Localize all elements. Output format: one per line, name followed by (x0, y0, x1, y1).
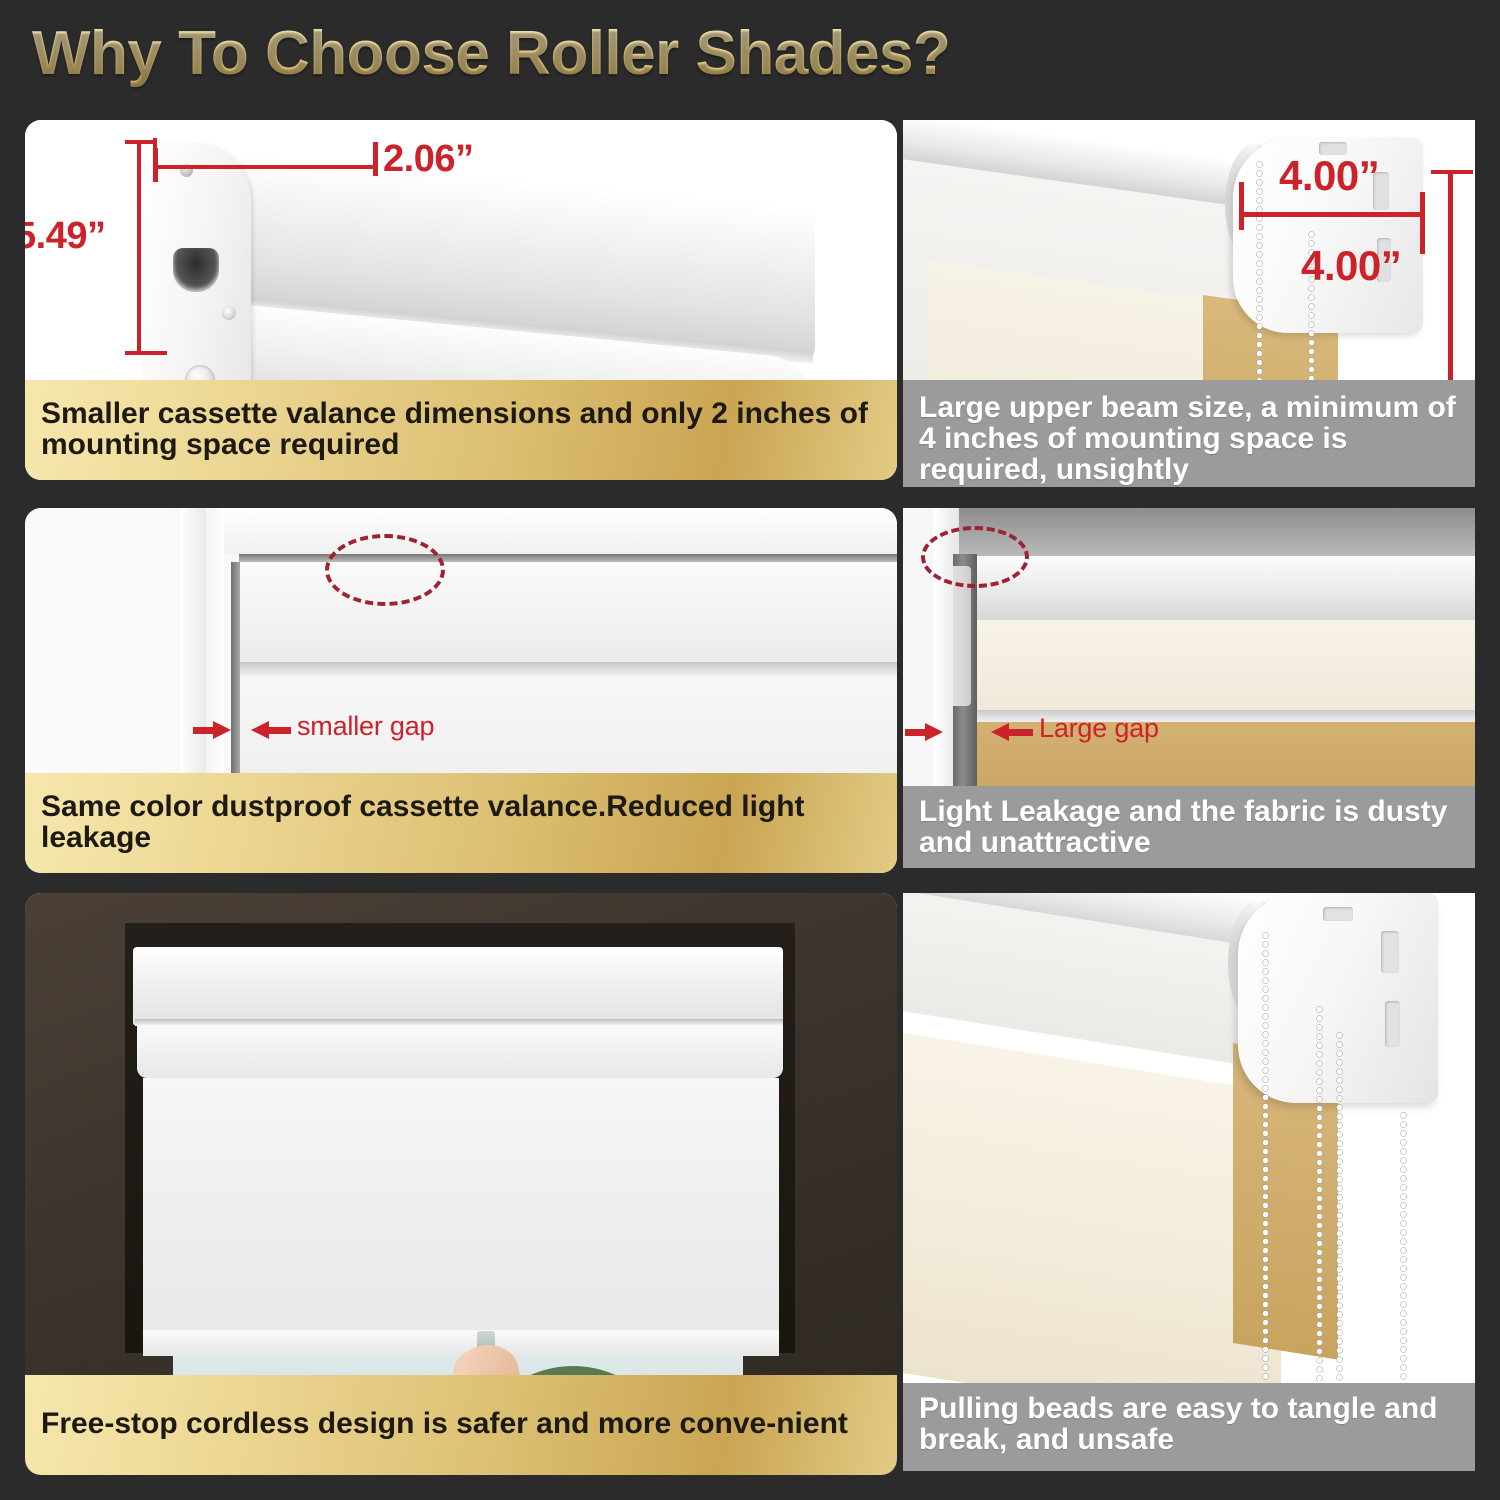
dim-height-line (137, 140, 141, 355)
bracket-slot-b (1385, 1001, 1400, 1047)
dim-width-tick-right-2 (1420, 192, 1425, 254)
caption-text: Large upper beam size, a minimum of 4 in… (919, 392, 1461, 486)
panel-smaller-gap: smaller gap Same color dustproof cassett… (25, 508, 897, 873)
roller-tube-white (959, 556, 1475, 620)
dim-height-cap-top (125, 140, 155, 144)
seam-highlight-ellipse (325, 534, 445, 606)
caption-text: Smaller cassette valance dimensions and … (41, 398, 883, 460)
panel-pulling-beads: Pulling beads are easy to tangle and bre… (903, 893, 1475, 1471)
bracket-slot (173, 248, 219, 292)
bracket-slot-a (1381, 931, 1399, 973)
roller-shade-panel (143, 1078, 779, 1348)
shade-fabric-cream (965, 620, 1475, 710)
dim-height-label-2: 4.00” (1301, 242, 1401, 290)
bead-chain-1 (1261, 931, 1270, 1381)
gap-arrow-left-tail (193, 727, 217, 734)
bead-chain-4 (1399, 1111, 1408, 1381)
shade-hem-bar (143, 1330, 779, 1356)
dark-recess-band (959, 508, 1475, 556)
dim-height-cap-top-2 (1431, 170, 1473, 174)
shade-lip (239, 662, 897, 676)
dim-height-cap-bottom (125, 351, 167, 355)
caption-text: Free-stop cordless design is safer and m… (41, 1408, 883, 1439)
dim-width-label-2: 4.00” (1279, 152, 1379, 200)
caption-text: Same color dustproof cassette valance.Re… (41, 791, 883, 853)
side-gap (231, 562, 240, 806)
caption-bar-large-gap: Light Leakage and the fabric is dusty an… (903, 786, 1475, 868)
panel-large-upper-beam: 4.00” 4.00” Large upper beam size, a min… (903, 120, 1475, 487)
valance-upper (133, 947, 783, 1025)
caption-text: Pulling beads are easy to tangle and bre… (919, 1393, 1461, 1455)
caption-bar-pulling-beads: Pulling beads are easy to tangle and bre… (903, 1383, 1475, 1471)
window-head-trim (224, 508, 897, 554)
caption-bar-small-cassette: Smaller cassette valance dimensions and … (25, 380, 897, 480)
panel-large-gap: Large gap Light Leakage and the fabric i… (903, 508, 1475, 868)
gap-arrow-left-tail (905, 729, 929, 736)
panel-cordless-design: Free-stop cordless design is safer and m… (25, 893, 897, 1475)
dim-height-label: 5.49” (25, 215, 105, 258)
panel-small-cassette-valance: 2.06” 5.49” Smaller cassette valance dim… (25, 120, 897, 480)
caption-bar-smaller-gap: Same color dustproof cassette valance.Re… (25, 773, 897, 873)
gap-arrow-right-tail (267, 727, 291, 734)
dim-width-line-2 (1241, 212, 1423, 217)
gap-label-smaller: smaller gap (297, 711, 434, 742)
caption-bar-cordless: Free-stop cordless design is safer and m… (25, 1375, 897, 1475)
bracket-screw-mid (222, 306, 236, 320)
bead-chain-2 (1315, 1005, 1324, 1381)
seam-highlight-ellipse (921, 526, 1029, 588)
dim-height-line-2 (1448, 170, 1453, 400)
valance-lower (137, 1026, 783, 1078)
dim-width-tick-right (373, 142, 378, 176)
caption-bar-large-beam: Large upper beam size, a minimum of 4 in… (903, 380, 1475, 487)
dim-width-line (155, 165, 377, 169)
gap-label-large: Large gap (1039, 713, 1159, 744)
caption-text: Light Leakage and the fabric is dusty an… (919, 796, 1461, 858)
bracket-slot-c (1323, 907, 1353, 921)
bead-chain-3 (1335, 1031, 1344, 1381)
valance-seam (135, 1019, 783, 1026)
gap-arrow-right-tail (1007, 729, 1033, 736)
dim-width-label: 2.06” (383, 138, 473, 181)
shade-fabric-cream (903, 1033, 1281, 1433)
page-title: Why To Choose Roller Shades? (32, 18, 1132, 98)
dim-width-tick-left-2 (1239, 182, 1244, 230)
